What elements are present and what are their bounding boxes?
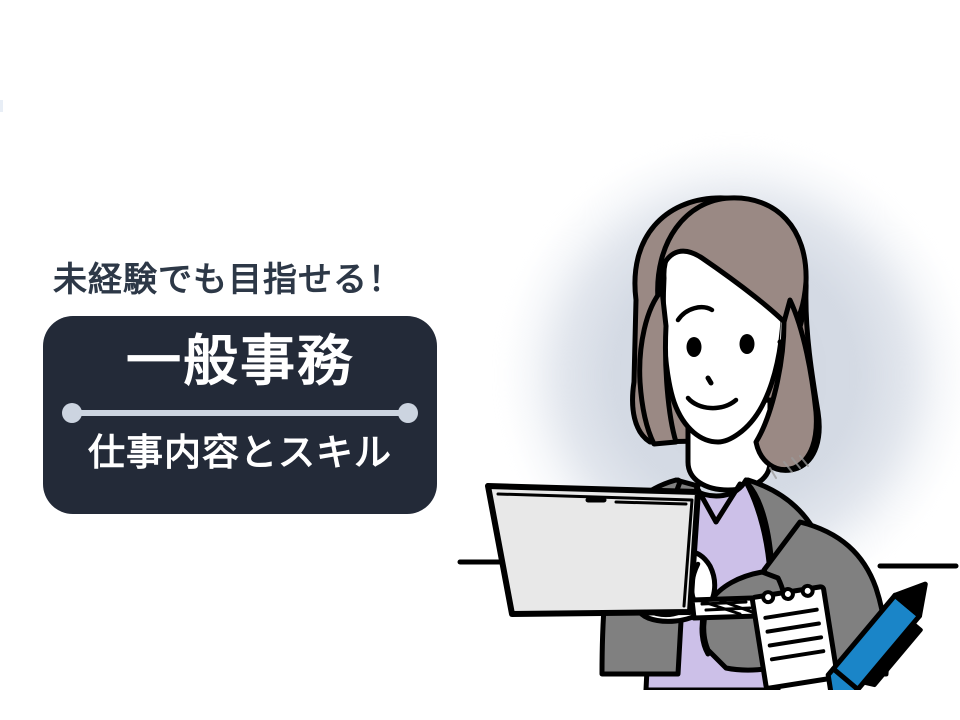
eye-left	[687, 337, 702, 357]
badge-subtitle: 仕事内容とスキル	[43, 432, 437, 475]
poster-canvas: 未経験でも目指せる！ 一般事務 仕事内容とスキル	[0, 0, 960, 720]
badge-title: 一般事務	[43, 330, 437, 393]
headline-group: 未経験でも目指せる！ 一般事務 仕事内容とスキル	[43, 262, 443, 514]
divider-bar	[72, 410, 408, 416]
nose	[708, 378, 711, 383]
laptop-lid	[488, 486, 698, 614]
eye-right	[740, 334, 755, 354]
divider-dot-right	[398, 403, 418, 423]
notepad	[752, 583, 838, 688]
badge-divider	[62, 403, 418, 423]
illustration-office-worker	[440, 150, 960, 690]
laptop-hinge-line	[616, 502, 686, 504]
title-badge: 一般事務 仕事内容とスキル	[43, 316, 437, 514]
kicker-text: 未経験でも目指せる！	[53, 262, 443, 299]
corner-tick-mark	[0, 100, 3, 112]
